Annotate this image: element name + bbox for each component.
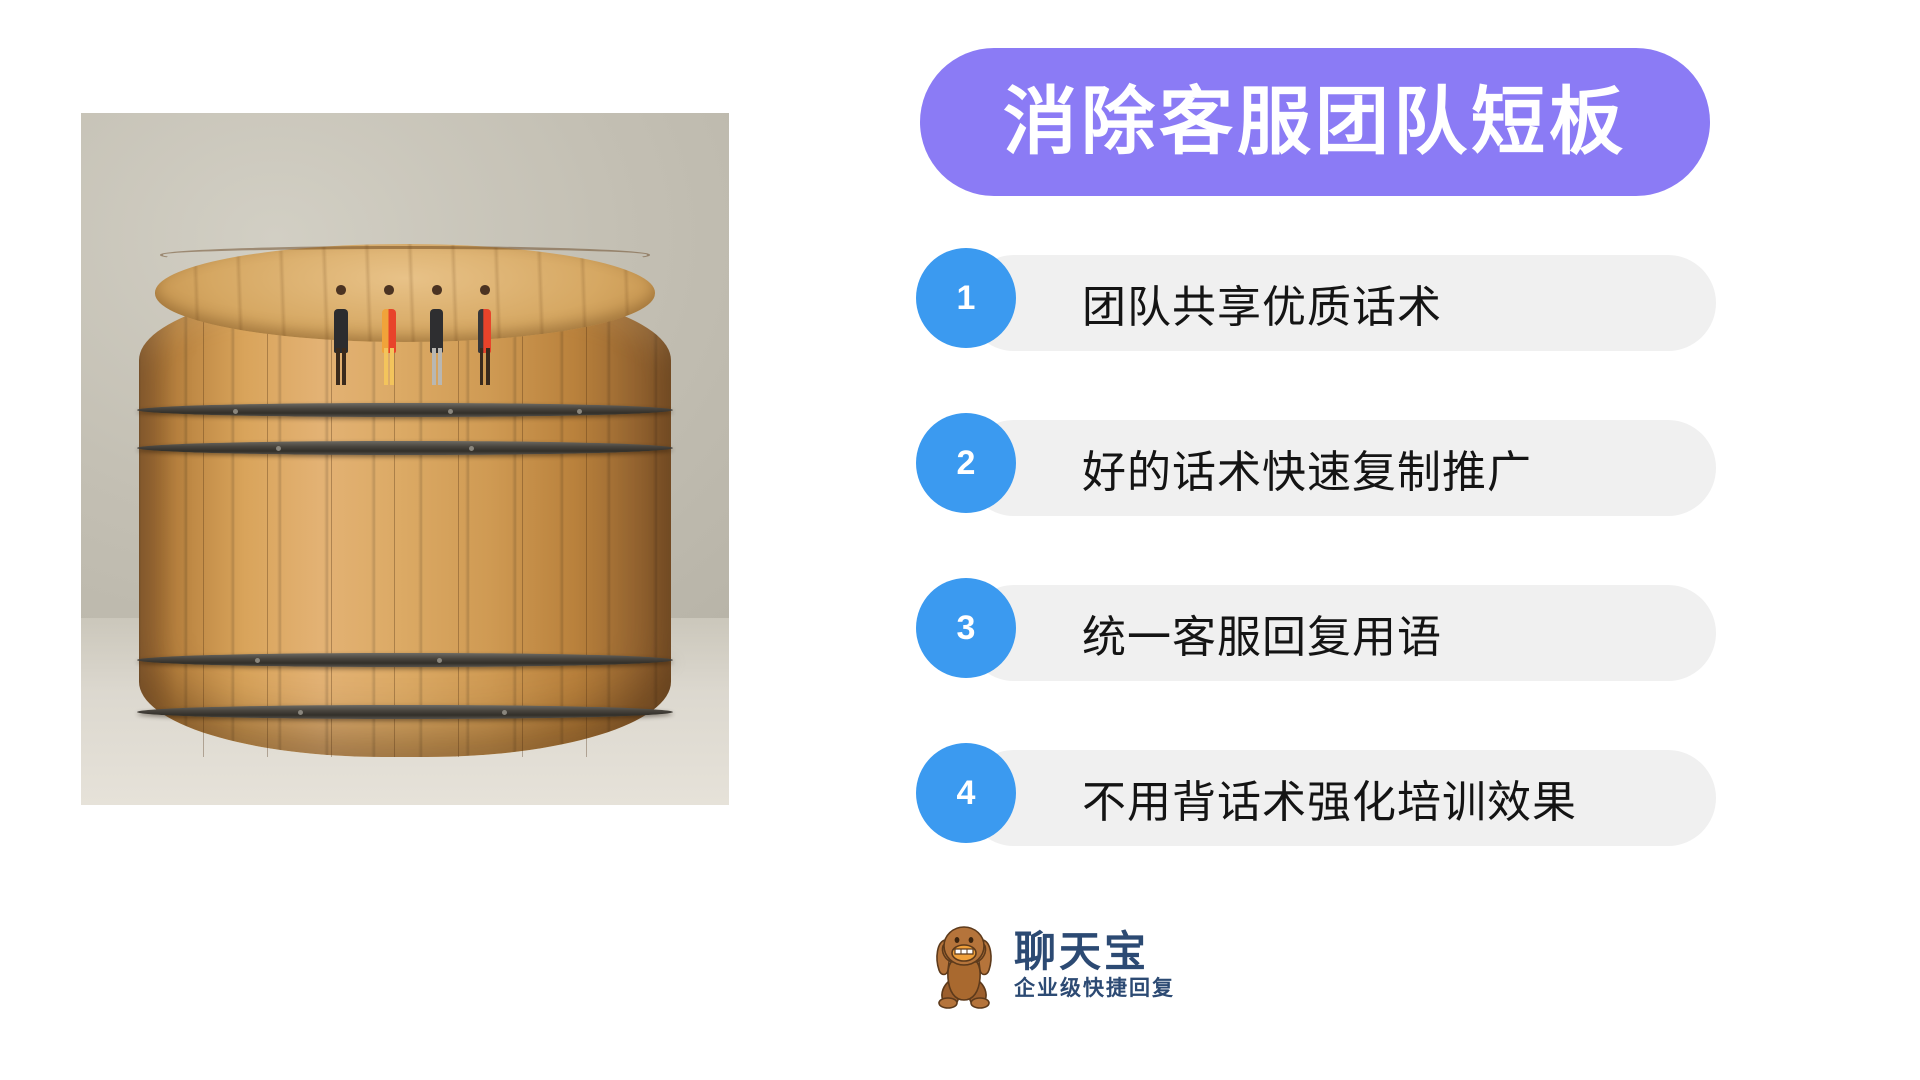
list-item[interactable]: 2 好的话术快速复制推广 xyxy=(916,413,1716,523)
list-item[interactable]: 4 不用背话术强化培训效果 xyxy=(916,743,1716,853)
figure xyxy=(378,285,399,382)
figure xyxy=(331,285,352,382)
barrel-hoop xyxy=(137,403,674,417)
logo-tagline: 企业级快捷回复 xyxy=(1014,978,1175,999)
photo-backdrop xyxy=(81,113,729,805)
figure xyxy=(474,285,495,382)
hero-image xyxy=(81,113,729,805)
barrel-hoop xyxy=(137,441,674,455)
brand-logo: 聊天宝 企业级快捷回复 xyxy=(928,918,1175,1012)
list-item-label: 不用背话术强化培训效果 xyxy=(1082,743,1577,853)
list-item-label: 统一客服回复用语 xyxy=(1082,578,1442,688)
list-item-number: 2 xyxy=(916,413,1016,513)
list-item-label: 团队共享优质话术 xyxy=(1082,248,1442,358)
barrel-lid-rim xyxy=(160,246,649,264)
list-item-number: 4 xyxy=(916,743,1016,843)
list-item-number: 3 xyxy=(916,578,1016,678)
list-item-label: 好的话术快速复制推广 xyxy=(1082,413,1532,523)
logo-name: 聊天宝 xyxy=(1014,931,1175,973)
barrel xyxy=(139,244,670,756)
list-item-number: 1 xyxy=(916,248,1016,348)
brown-dog-mascot-icon xyxy=(928,918,1000,1012)
feature-list: 1 团队共享优质话术 2 好的话术快速复制推广 3 统一客服回复用语 4 不用背… xyxy=(916,248,1716,908)
title-banner: 消除客服团队短板 xyxy=(920,48,1710,196)
page-title: 消除客服团队短板 xyxy=(1003,85,1627,159)
barrel-hoop xyxy=(137,705,674,719)
list-item[interactable]: 3 统一客服回复用语 xyxy=(916,578,1716,688)
logo-text-block: 聊天宝 企业级快捷回复 xyxy=(1014,931,1175,999)
slide-root: 消除客服团队短板 1 团队共享优质话术 2 好的话术快速复制推广 3 统一客服回… xyxy=(0,0,1920,1080)
barrel-hoop xyxy=(137,653,674,667)
figure xyxy=(426,285,447,382)
list-item[interactable]: 1 团队共享优质话术 xyxy=(916,248,1716,358)
miniature-figures xyxy=(331,285,522,382)
